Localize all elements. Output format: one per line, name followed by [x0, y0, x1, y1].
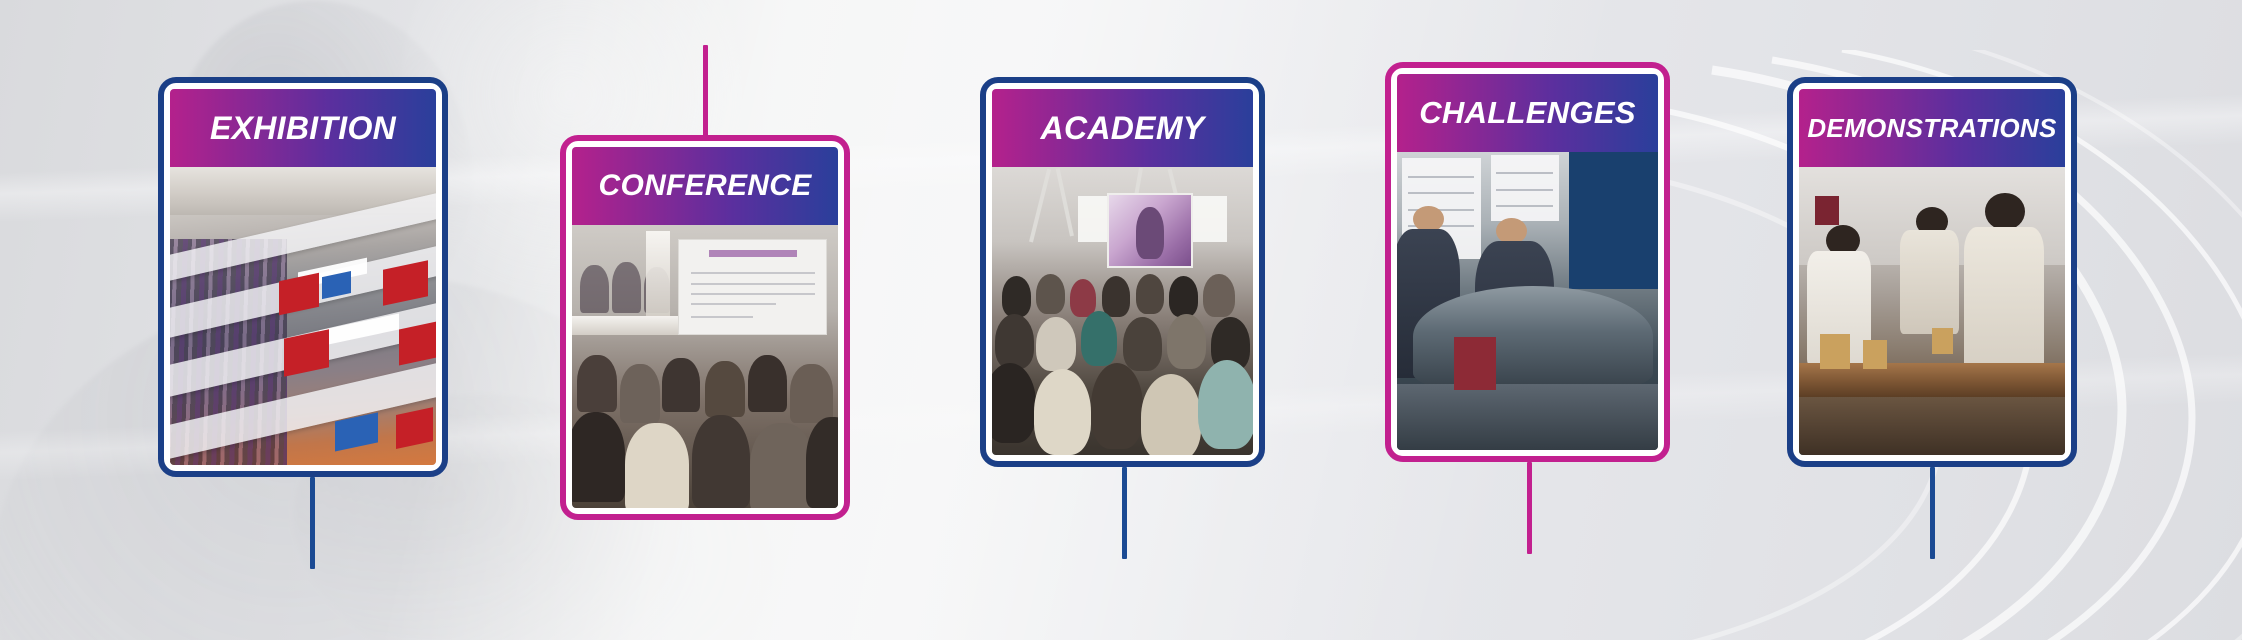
timeline-card-conference[interactable]: CONFERENCE — [560, 135, 850, 520]
photo-audience-head — [577, 355, 617, 412]
photo-audience-head — [1002, 276, 1031, 316]
photo-maroon-sign — [1815, 196, 1839, 225]
photo-audience-head — [1034, 369, 1091, 455]
card-inner-demonstrations: DEMONSTRATIONS — [1799, 89, 2065, 455]
card-photo-challenges — [1397, 152, 1658, 450]
photo-person-apron — [1964, 227, 2044, 377]
photo-screen-line — [691, 303, 776, 305]
photo-side-banner — [646, 231, 670, 316]
photo-audience-head — [1091, 363, 1143, 449]
photo-equipment-box — [1454, 337, 1496, 391]
card-inner-challenges: CHALLENGES — [1397, 74, 1658, 450]
connector-demonstrations — [1930, 467, 1935, 559]
photo-wood-piece — [1932, 328, 1953, 354]
timeline-card-exhibition[interactable]: EXHIBITION — [158, 77, 448, 477]
card-photo-conference — [572, 225, 838, 508]
photo-side-banner-left — [1078, 196, 1109, 242]
photo-wood-piece — [1820, 334, 1849, 369]
photo-audience-head — [692, 415, 751, 508]
photo-board-line — [1408, 176, 1474, 178]
photo-wood-piece — [1863, 340, 1887, 369]
photo-metal-component — [1413, 286, 1653, 387]
photo-audience-head — [620, 364, 660, 423]
photo-audience-head — [1081, 311, 1118, 366]
card-title-academy: ACADEMY — [992, 89, 1253, 167]
photo-audience-head — [1169, 276, 1198, 316]
photo-audience-head — [625, 423, 689, 508]
connector-academy — [1122, 467, 1127, 559]
photo-audience-head — [750, 423, 814, 508]
photo-panel-table — [572, 316, 678, 336]
photo-audience-head — [1141, 374, 1201, 455]
card-inner-conference: CONFERENCE — [572, 147, 838, 508]
photo-audience-head — [705, 361, 745, 418]
photo-audience-head — [1136, 274, 1165, 314]
card-title-challenges: CHALLENGES — [1397, 74, 1658, 152]
photo-audience-head — [662, 358, 699, 412]
connector-challenges — [1527, 462, 1532, 554]
photo-audience-head — [1036, 317, 1075, 372]
photo-audience-head — [806, 417, 838, 508]
card-inner-academy: ACADEMY — [992, 89, 1253, 455]
programme-timeline: EXHIBITION CO — [0, 0, 2242, 640]
photo-info-board — [1491, 155, 1559, 221]
photo-foreground-demonstrations — [1799, 397, 2065, 455]
photo-speaker-on-screen — [1136, 207, 1165, 259]
photo-person-apron — [1900, 230, 1959, 334]
photo-screen-header — [709, 250, 797, 257]
connector-exhibition — [310, 477, 315, 569]
photo-floor-challenges — [1397, 384, 1658, 450]
card-photo-exhibition — [170, 167, 436, 465]
photo-audience-head — [1123, 317, 1162, 372]
card-photo-demonstrations — [1799, 167, 2065, 455]
photo-screen-line — [691, 283, 814, 285]
photo-audience-head — [748, 355, 788, 412]
photo-audience-head — [572, 412, 625, 503]
photo-board-line — [1408, 192, 1474, 194]
photo-panel-seat — [580, 265, 609, 313]
photo-audience-head — [790, 364, 833, 423]
photo-blue-rig — [1569, 152, 1658, 289]
photo-panel-seat — [612, 262, 641, 313]
timeline-card-academy[interactable]: ACADEMY — [980, 77, 1265, 467]
photo-board-line — [1496, 172, 1553, 174]
photo-board-line — [1496, 205, 1553, 207]
photo-audience-head — [1102, 276, 1131, 316]
timeline-card-demonstrations[interactable]: DEMONSTRATIONS — [1787, 77, 2077, 467]
photo-audience-head — [1198, 360, 1253, 449]
photo-screen-line — [691, 316, 753, 318]
card-title-demonstrations: DEMONSTRATIONS — [1799, 89, 2065, 167]
card-title-conference: CONFERENCE — [572, 147, 838, 225]
photo-audience-head — [1070, 279, 1096, 316]
photo-side-banner-right — [1193, 196, 1227, 242]
photo-screen-line — [691, 272, 814, 274]
photo-audience-head — [995, 314, 1034, 369]
card-photo-academy — [992, 167, 1253, 455]
card-title-exhibition: EXHIBITION — [170, 89, 436, 167]
photo-audience-head — [1203, 274, 1234, 317]
photo-worker-head — [1413, 206, 1444, 233]
photo-audience-head — [1036, 274, 1065, 314]
timeline-card-challenges[interactable]: CHALLENGES — [1385, 62, 1670, 462]
photo-audience-head — [1167, 314, 1206, 369]
photo-screen-line — [691, 293, 814, 295]
photo-presentation-screen — [678, 239, 827, 335]
connector-conference — [703, 45, 708, 137]
card-inner-exhibition: EXHIBITION — [170, 89, 436, 465]
photo-board-line — [1496, 189, 1553, 191]
